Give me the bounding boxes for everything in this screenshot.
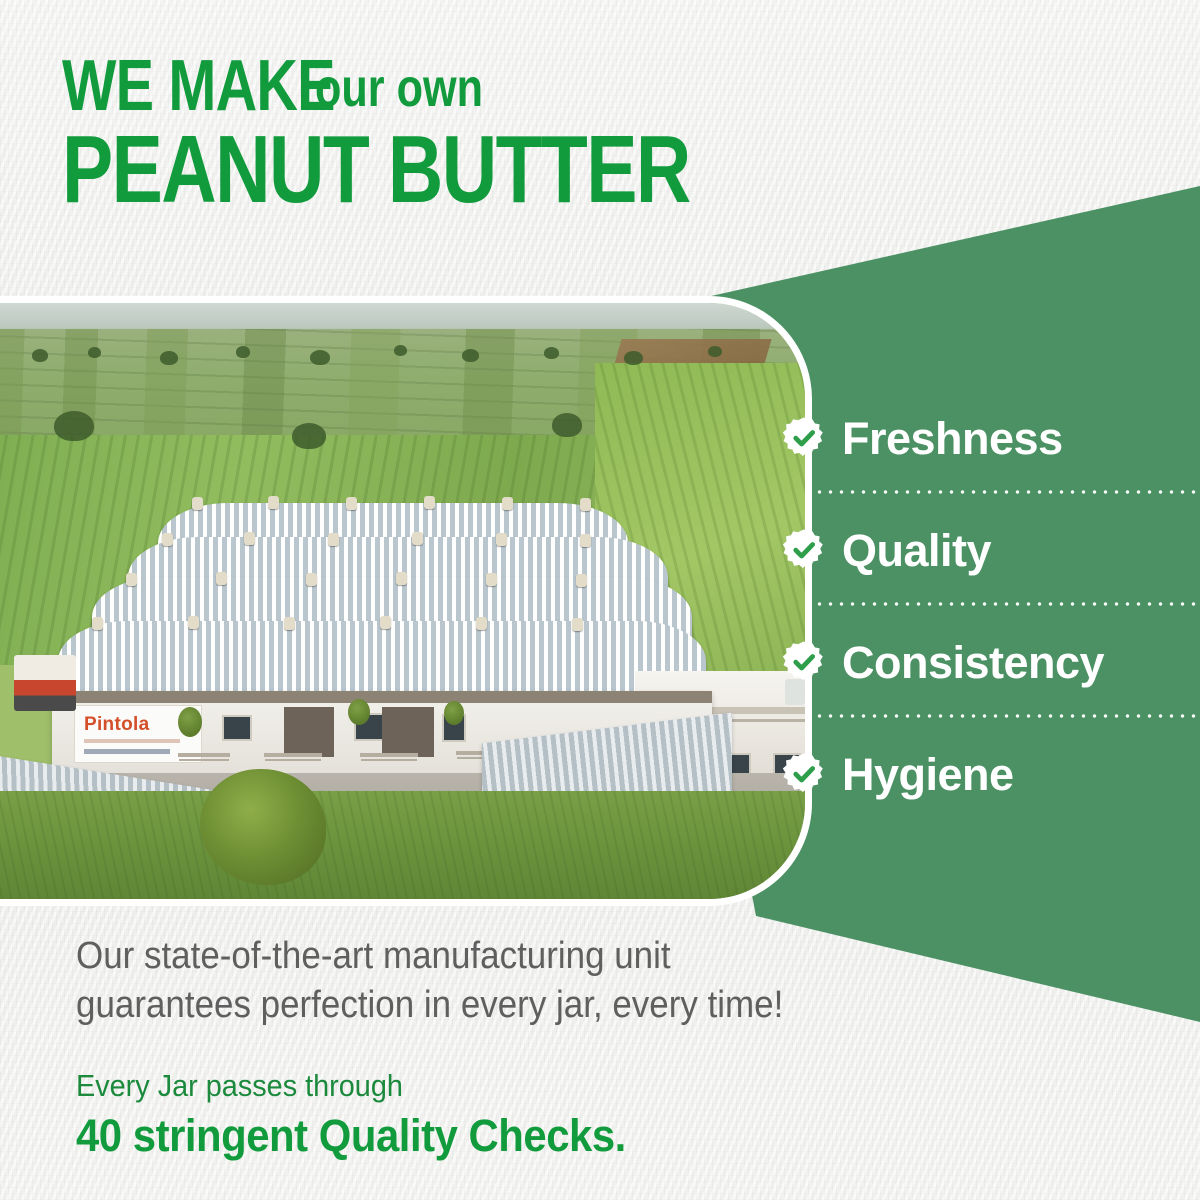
check-badge-icon xyxy=(782,752,826,796)
photo-roof-vent xyxy=(306,573,317,586)
photo-facade-band xyxy=(52,691,712,703)
photo-roof-vent xyxy=(126,573,137,586)
photo-roof-vent xyxy=(580,498,591,511)
photo-roof-vent xyxy=(572,618,583,631)
factory-photo: Pintola xyxy=(0,303,805,899)
kicker-block: Every Jar passes through 40 stringent Qu… xyxy=(76,1068,667,1161)
photo-roof-vent xyxy=(92,617,103,630)
feature-label: Consistency xyxy=(842,640,1104,685)
photo-roof xyxy=(58,621,706,695)
features-list: Freshness Quality Consistency xyxy=(782,382,1200,830)
photo-roof-vent xyxy=(328,533,339,546)
photo-tree xyxy=(544,347,559,359)
photo-bay-door xyxy=(284,707,334,757)
headline-line-2: PEANUT BUTTER xyxy=(62,124,962,215)
kicker-big-text: 40 stringent Quality Checks. xyxy=(76,1110,626,1162)
photo-tree xyxy=(552,413,582,437)
poster-canvas: WE MAKEour own PEANUT BUTTER xyxy=(0,0,1200,1200)
photo-grass-strip xyxy=(0,791,805,899)
photo-roof-vent xyxy=(188,616,199,629)
headline-peanut-butter: PEANUT BUTTER xyxy=(62,124,690,215)
feature-item-freshness[interactable]: Freshness xyxy=(782,382,1200,494)
feature-item-consistency[interactable]: Consistency xyxy=(782,606,1200,718)
feature-label: Quality xyxy=(842,528,991,573)
photo-balcony-rail xyxy=(178,753,230,757)
kicker-small-text: Every Jar passes through xyxy=(76,1068,626,1104)
photo-roof-vent xyxy=(424,496,435,509)
brand-name-text: Pintola xyxy=(84,715,149,734)
body-copy-block: Our state-of-the-art manufacturing unit … xyxy=(76,932,866,1029)
photo-tree xyxy=(32,349,48,362)
factory-photo-card: Pintola xyxy=(0,303,805,899)
headline-our-own: our own xyxy=(315,63,483,114)
photo-tree xyxy=(462,349,479,362)
headline-we-make: WE MAKE xyxy=(62,52,335,120)
photo-tree xyxy=(88,347,101,358)
photo-shrub xyxy=(178,707,202,737)
photo-bay-door xyxy=(382,707,434,757)
photo-roof-vent xyxy=(502,497,513,510)
photo-roof-vent xyxy=(380,616,391,629)
sign-subline xyxy=(84,739,180,743)
photo-roof-vent xyxy=(268,496,279,509)
photo-roof-vent xyxy=(486,573,497,586)
photo-tree xyxy=(54,411,94,441)
photo-roof-vent xyxy=(412,532,423,545)
sign-subline-secondary xyxy=(84,749,170,754)
photo-shrub xyxy=(444,701,464,725)
photo-roof-vent xyxy=(576,574,587,587)
photo-tree xyxy=(708,346,722,357)
photo-shrub xyxy=(348,699,370,725)
body-copy-line-1: Our state-of-the-art manufacturing unit xyxy=(76,932,803,981)
check-badge-icon xyxy=(782,416,826,460)
feature-item-hygiene[interactable]: Hygiene xyxy=(782,718,1200,830)
photo-roof-vent xyxy=(580,534,591,547)
photo-tree xyxy=(292,423,326,449)
photo-balcony-rail xyxy=(264,753,322,757)
photo-truck xyxy=(14,655,76,711)
body-copy-line-2: guarantees perfection in every jar, ever… xyxy=(76,981,803,1030)
headline-line-1: WE MAKEour own xyxy=(62,52,962,120)
photo-roof-vent xyxy=(244,532,255,545)
photo-roof-vent xyxy=(284,617,295,630)
check-badge-icon xyxy=(782,528,826,572)
photo-tree xyxy=(236,346,250,358)
photo-roof-vent xyxy=(216,572,227,585)
photo-tree xyxy=(394,345,407,356)
photo-tree xyxy=(160,351,178,365)
photo-window xyxy=(222,715,252,741)
photo-roof-vent xyxy=(476,617,487,630)
feature-label: Freshness xyxy=(842,416,1063,461)
headline-block: WE MAKEour own PEANUT BUTTER xyxy=(62,52,962,216)
photo-roof-vent xyxy=(496,533,507,546)
photo-tree xyxy=(310,350,330,365)
photo-balcony-rail xyxy=(360,753,418,757)
photo-roof-vent xyxy=(346,497,357,510)
photo-tree xyxy=(624,351,643,365)
feature-label: Hygiene xyxy=(842,752,1014,797)
feature-item-quality[interactable]: Quality xyxy=(782,494,1200,606)
photo-roof-vent xyxy=(192,497,203,510)
photo-roof-vent xyxy=(162,533,173,546)
check-badge-icon xyxy=(782,640,826,684)
photo-roof-vent xyxy=(396,572,407,585)
